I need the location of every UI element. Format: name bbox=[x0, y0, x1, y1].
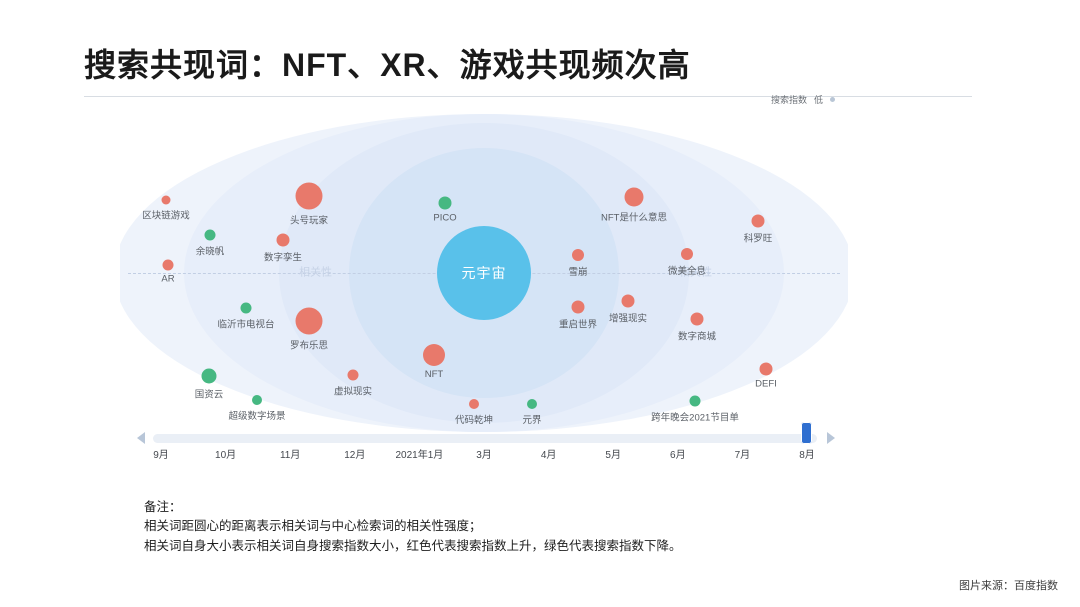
timeline-handle[interactable] bbox=[801, 422, 812, 444]
page-title: 搜索共现词：NFT、XR、游戏共现频次高 bbox=[84, 40, 691, 86]
bubble-node[interactable]: 虚拟现实 bbox=[348, 370, 359, 381]
bubble-label: DEFI bbox=[755, 379, 777, 390]
notes-line-2: 相关词自身大小表示相关词自身搜索指数大小，红色代表搜索指数上升，绿色代表搜索指数… bbox=[144, 537, 682, 556]
center-keyword-bubble[interactable]: 元宇宙 bbox=[437, 226, 531, 320]
legend-label: 搜索指数 bbox=[771, 93, 807, 106]
bubble-label: 头号玩家 bbox=[290, 213, 328, 227]
bubble-node[interactable]: 跨年晚会2021节目单 bbox=[690, 396, 701, 407]
bubble-marker bbox=[439, 197, 452, 210]
bubble-label: 数字商城 bbox=[678, 329, 716, 343]
bubble-marker bbox=[572, 301, 585, 314]
center-keyword-label: 元宇宙 bbox=[462, 263, 507, 283]
bubble-node[interactable]: 重启世界 bbox=[572, 301, 585, 314]
bubble-label: 元界 bbox=[522, 412, 541, 426]
bubble-label: 增强现实 bbox=[609, 311, 647, 325]
bubble-marker bbox=[527, 399, 537, 409]
bubble-label: 临沂市电视台 bbox=[217, 317, 274, 331]
timeline-tick[interactable]: 10月 bbox=[215, 446, 236, 461]
bubble-marker bbox=[296, 308, 323, 335]
cooccurrence-bubble-chart[interactable]: 相关性 相关性 元宇宙 区块链游戏余晓帆AR头号玩家数字孪生PICO临沂市电视台… bbox=[120, 113, 848, 433]
bubble-label: NFT是什么意思 bbox=[601, 210, 667, 224]
bubble-marker bbox=[622, 295, 635, 308]
timeline-tick[interactable]: 5月 bbox=[605, 446, 621, 461]
size-legend-dot-icon bbox=[830, 97, 835, 102]
bubble-marker bbox=[690, 396, 701, 407]
bubble-label: 雪崩 bbox=[568, 264, 587, 278]
timeline-tick[interactable]: 7月 bbox=[735, 446, 751, 461]
timeline-tick[interactable]: 12月 bbox=[344, 446, 365, 461]
timeline-tick[interactable]: 3月 bbox=[476, 446, 492, 461]
bubble-node[interactable]: 数字孪生 bbox=[277, 234, 290, 247]
timeline-next-arrow-icon[interactable] bbox=[827, 432, 835, 444]
bubble-marker bbox=[752, 215, 765, 228]
bubble-marker bbox=[163, 260, 174, 271]
bubble-label: 罗布乐思 bbox=[290, 338, 328, 352]
bubble-marker bbox=[625, 188, 644, 207]
notes-line-1: 相关词距圆心的距离表示相关词与中心检索词的相关性强度； bbox=[144, 517, 682, 536]
bubble-node[interactable]: 区块链游戏 bbox=[162, 196, 171, 205]
timeline-track[interactable] bbox=[153, 434, 817, 443]
bubble-node[interactable]: 元界 bbox=[527, 399, 537, 409]
bubble-marker bbox=[277, 234, 290, 247]
bubble-marker bbox=[205, 230, 216, 241]
timeline-tick[interactable]: 2021年1月 bbox=[395, 446, 443, 461]
timeline-slider[interactable]: 9月10月11月12月2021年1月3月4月5月6月7月8月 bbox=[135, 428, 835, 462]
bubble-marker bbox=[162, 196, 171, 205]
bubble-marker bbox=[348, 370, 359, 381]
bubble-node[interactable]: 头号玩家 bbox=[296, 183, 323, 210]
bubble-marker bbox=[202, 369, 217, 384]
bubble-label: 微美全息 bbox=[668, 263, 706, 277]
bubble-marker bbox=[296, 183, 323, 210]
notes-heading: 备注： bbox=[144, 498, 682, 517]
bubble-marker bbox=[691, 313, 704, 326]
notes-block: 备注： 相关词距圆心的距离表示相关词与中心检索词的相关性强度； 相关词自身大小表… bbox=[144, 498, 682, 556]
search-index-legend: 搜索指数 低 bbox=[771, 93, 835, 106]
bubble-node[interactable]: 数字商城 bbox=[691, 313, 704, 326]
bubble-node[interactable]: 科罗旺 bbox=[752, 215, 765, 228]
bubble-node[interactable]: 罗布乐思 bbox=[296, 308, 323, 335]
bubble-label: 虚拟现实 bbox=[334, 384, 372, 398]
timeline-prev-arrow-icon[interactable] bbox=[137, 432, 145, 444]
bubble-label: 国资云 bbox=[195, 387, 224, 401]
bubble-node[interactable]: 雪崩 bbox=[572, 249, 584, 261]
bubble-node[interactable]: 临沂市电视台 bbox=[241, 303, 252, 314]
bubble-label: 超级数字场景 bbox=[228, 408, 285, 422]
timeline-tick[interactable]: 9月 bbox=[153, 446, 169, 461]
bubble-label: 代码乾坤 bbox=[455, 412, 493, 426]
bubble-marker bbox=[760, 363, 773, 376]
bubble-marker bbox=[572, 249, 584, 261]
bubble-label: 区块链游戏 bbox=[142, 208, 190, 222]
bubble-label: 余晓帆 bbox=[196, 244, 225, 258]
bubble-marker bbox=[423, 344, 445, 366]
bubble-label: 数字孪生 bbox=[264, 250, 302, 264]
timeline-tick[interactable]: 8月 bbox=[799, 446, 815, 461]
bubble-marker bbox=[252, 395, 262, 405]
legend-low-label: 低 bbox=[814, 93, 823, 106]
bubble-label: PICO bbox=[433, 213, 456, 224]
bubble-node[interactable]: 代码乾坤 bbox=[469, 399, 479, 409]
image-source-footer: 图片来源：百度指数 bbox=[959, 577, 1058, 593]
bubble-label: 科罗旺 bbox=[744, 231, 773, 245]
timeline-tick[interactable]: 4月 bbox=[541, 446, 557, 461]
timeline-tick[interactable]: 11月 bbox=[280, 446, 300, 461]
bubble-node[interactable]: DEFI bbox=[760, 363, 773, 376]
bubble-node[interactable]: PICO bbox=[439, 197, 452, 210]
bubble-node[interactable]: NFT是什么意思 bbox=[625, 188, 644, 207]
bubble-node[interactable]: 余晓帆 bbox=[205, 230, 216, 241]
bubble-marker bbox=[469, 399, 479, 409]
title-divider bbox=[84, 96, 972, 97]
bubble-marker bbox=[241, 303, 252, 314]
bubble-node[interactable]: 增强现实 bbox=[622, 295, 635, 308]
bubble-label: AR bbox=[161, 274, 174, 285]
bubble-label: 重启世界 bbox=[559, 317, 597, 331]
relevance-axis-label-left: 相关性 bbox=[295, 264, 336, 280]
bubble-node[interactable]: AR bbox=[163, 260, 174, 271]
bubble-label: 跨年晚会2021节目单 bbox=[651, 410, 739, 424]
bubble-marker bbox=[681, 248, 693, 260]
bubble-label: NFT bbox=[425, 369, 443, 380]
bubble-node[interactable]: 国资云 bbox=[202, 369, 217, 384]
timeline-tick[interactable]: 6月 bbox=[670, 446, 686, 461]
bubble-node[interactable]: 超级数字场景 bbox=[252, 395, 262, 405]
bubble-node[interactable]: 微美全息 bbox=[681, 248, 693, 260]
bubble-node[interactable]: NFT bbox=[423, 344, 445, 366]
